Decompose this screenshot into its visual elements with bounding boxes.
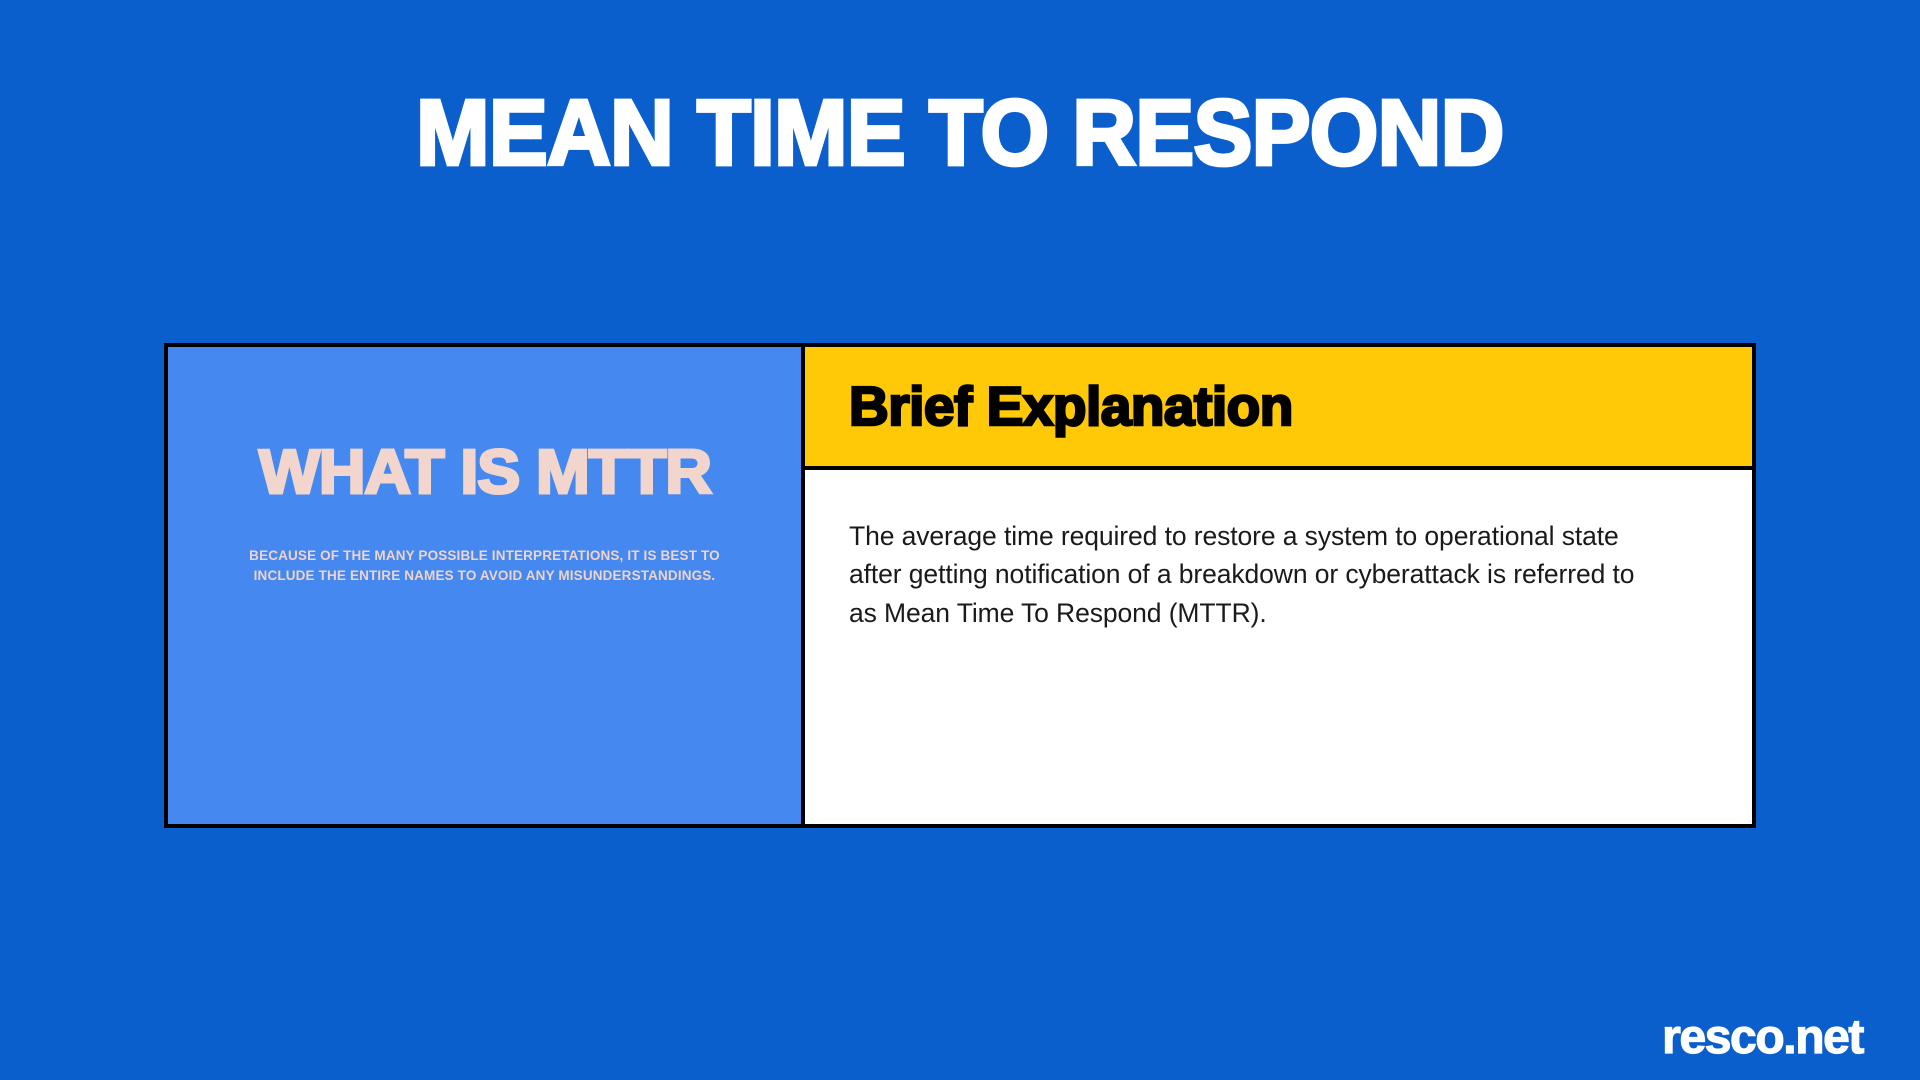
right-explanation-panel: Brief Explanation The average time requi… <box>805 347 1752 824</box>
page-title: MEAN TIME TO RESPOND <box>0 86 1920 179</box>
slide-root: { "slide": { "title": "MEAN TIME TO RESP… <box>0 0 1920 1080</box>
comparison-box: WHAT IS MTTR BECAUSE OF THE MANY POSSIBL… <box>164 343 1756 828</box>
left-panel-heading: WHAT IS MTTR <box>214 441 755 504</box>
left-panel-caption: BECAUSE OF THE MANY POSSIBLE INTERPRETAT… <box>225 546 745 586</box>
explanation-body-text: The average time required to restore a s… <box>849 517 1649 632</box>
explanation-body-area: The average time required to restore a s… <box>805 470 1752 824</box>
resco-logo: resco.net <box>1662 1014 1863 1062</box>
explanation-header-bar: Brief Explanation <box>805 347 1752 470</box>
left-definition-panel: WHAT IS MTTR BECAUSE OF THE MANY POSSIBL… <box>168 347 805 824</box>
explanation-header-label: Brief Explanation <box>849 379 1293 434</box>
